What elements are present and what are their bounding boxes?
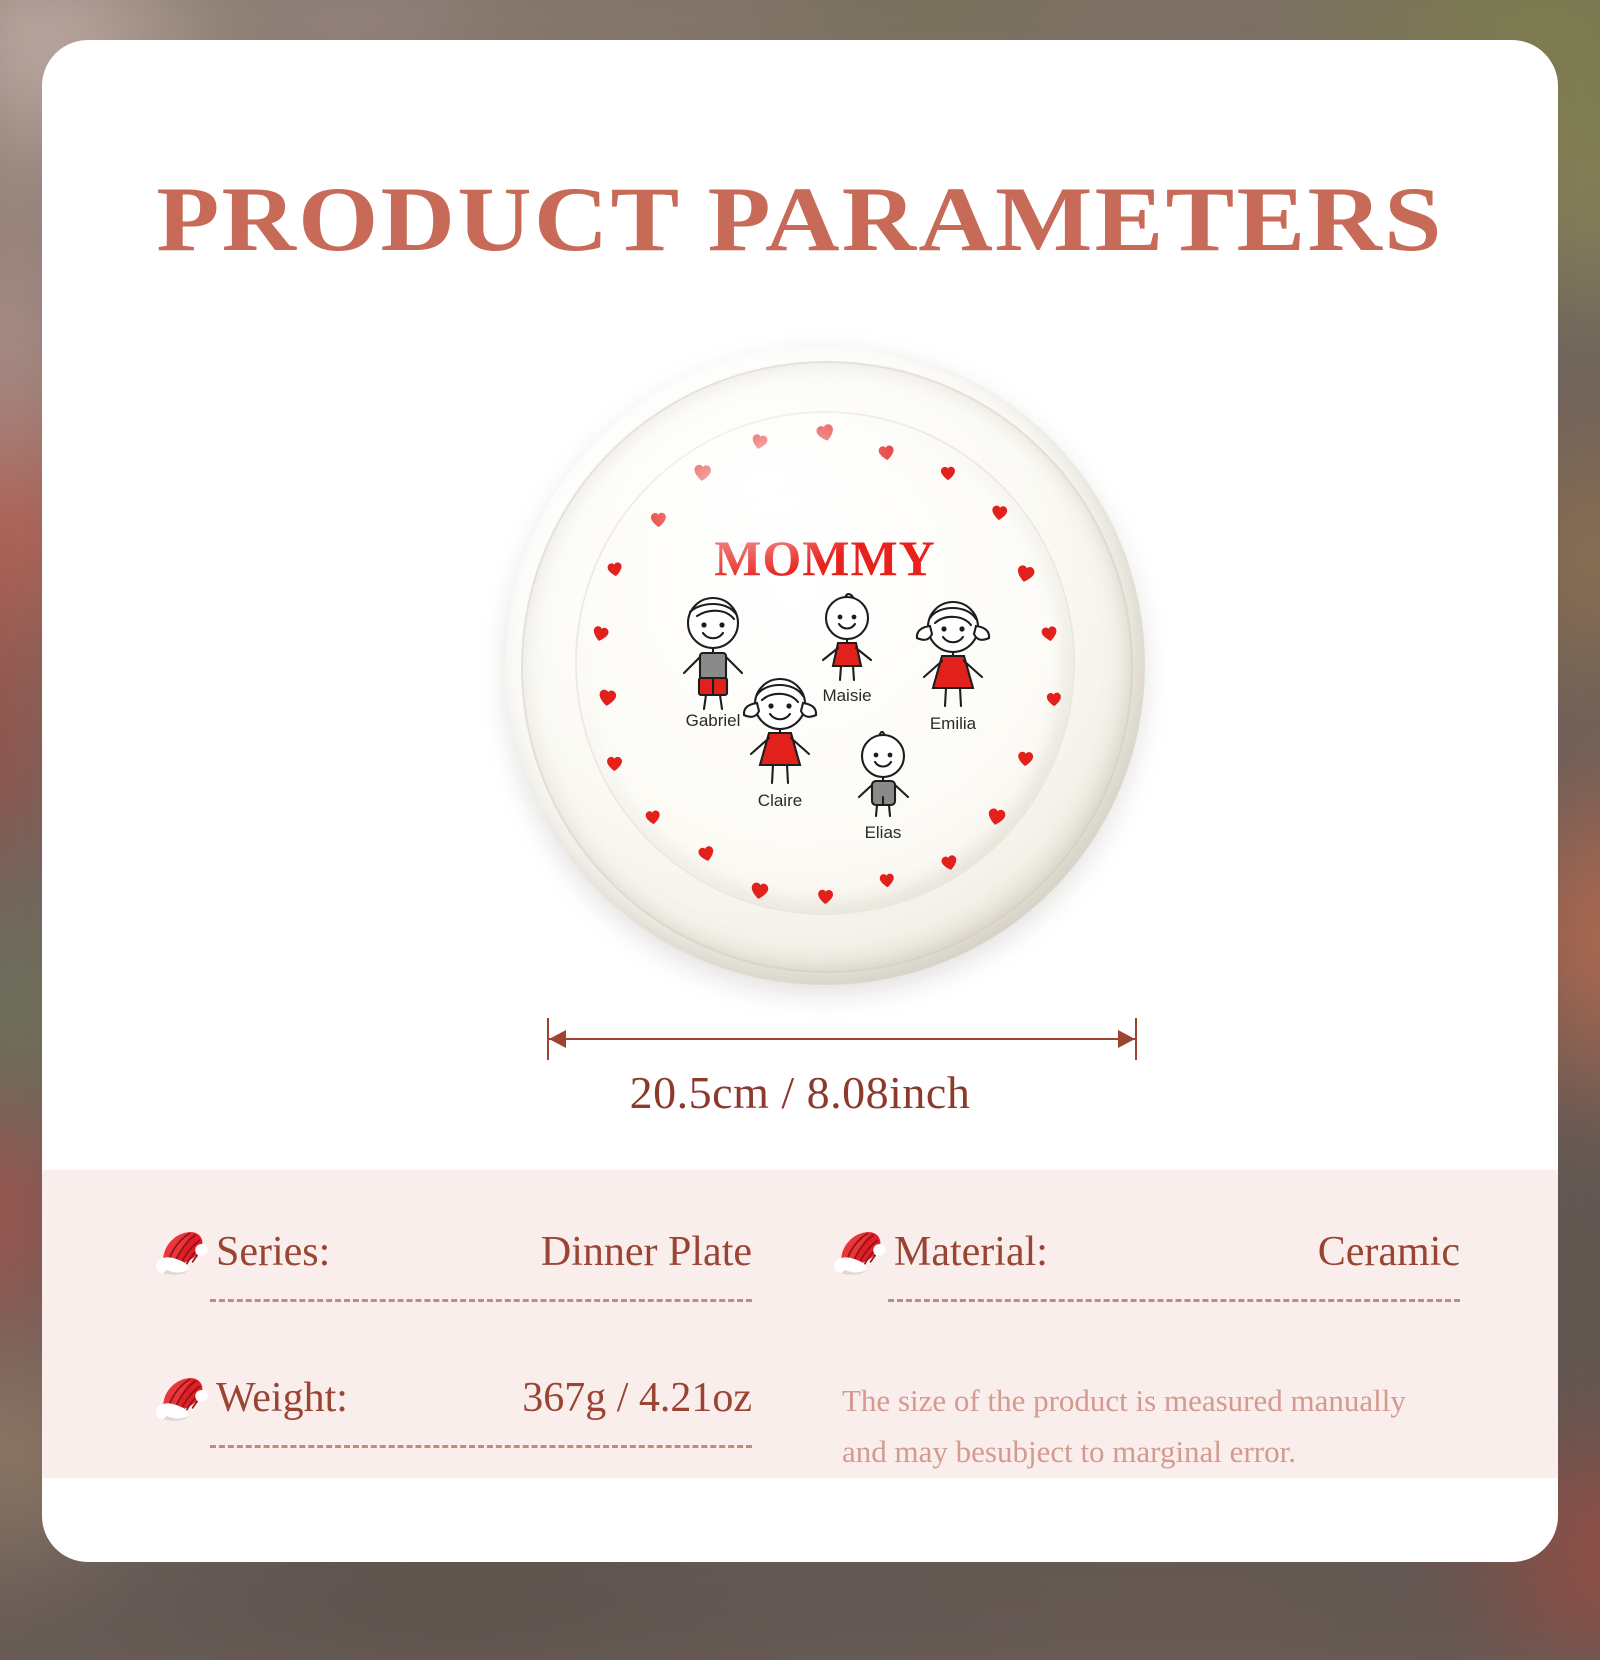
spec-divider (888, 1299, 1460, 1302)
figure-name: Elias (838, 824, 928, 843)
product-parameters-card: PRODUCT PARAMETERS MOMMY (42, 40, 1558, 1562)
santa-hat-icon (152, 1373, 210, 1423)
page-title: PRODUCT PARAMETERS (42, 173, 1558, 265)
girl-icon (732, 675, 828, 791)
girl-icon (905, 598, 1001, 714)
figure-elias: Elias (838, 727, 928, 843)
arrow-left-icon (549, 1030, 566, 1048)
dimension-rule (547, 1038, 1137, 1040)
spec-item-weight: Weight: 367g / 4.21oz (152, 1370, 752, 1426)
figure-name: Claire (730, 792, 830, 811)
baby-boy-icon (846, 727, 920, 823)
dimension-label: 20.5cm / 8.08inch (42, 1066, 1558, 1119)
spec-label: Weight: (216, 1374, 348, 1422)
arrow-right-icon (1118, 1030, 1135, 1048)
product-image-plate: MOMMY (505, 345, 1145, 985)
spec-value: Dinner Plate (541, 1228, 752, 1276)
dimension-line (547, 1018, 1137, 1060)
spec-label: Material: (894, 1228, 1048, 1276)
disclaimer-line-2: and may besubject to marginal error. (842, 1426, 1482, 1477)
disclaimer-line-1: The size of the product is measured manu… (842, 1375, 1482, 1426)
spec-panel: Series: Dinner Plate (42, 1170, 1558, 1478)
spec-value: Ceramic (1318, 1228, 1460, 1276)
spec-item-series: Series: Dinner Plate (152, 1224, 752, 1280)
figure-claire: Claire (730, 675, 830, 811)
spec-value: 367g / 4.21oz (522, 1374, 752, 1422)
santa-hat-icon (830, 1227, 888, 1277)
disclaimer-text: The size of the product is measured manu… (842, 1375, 1482, 1477)
santa-hat-icon (152, 1227, 210, 1277)
spec-divider (210, 1299, 752, 1302)
figure-emilia: Emilia (903, 598, 1003, 734)
stick-figure-family: Gabriel (505, 345, 1145, 985)
spec-divider (210, 1445, 752, 1448)
baby-girl-icon (810, 590, 884, 686)
spec-label: Series: (216, 1228, 330, 1276)
spec-item-material: Material: Ceramic (830, 1224, 1460, 1280)
